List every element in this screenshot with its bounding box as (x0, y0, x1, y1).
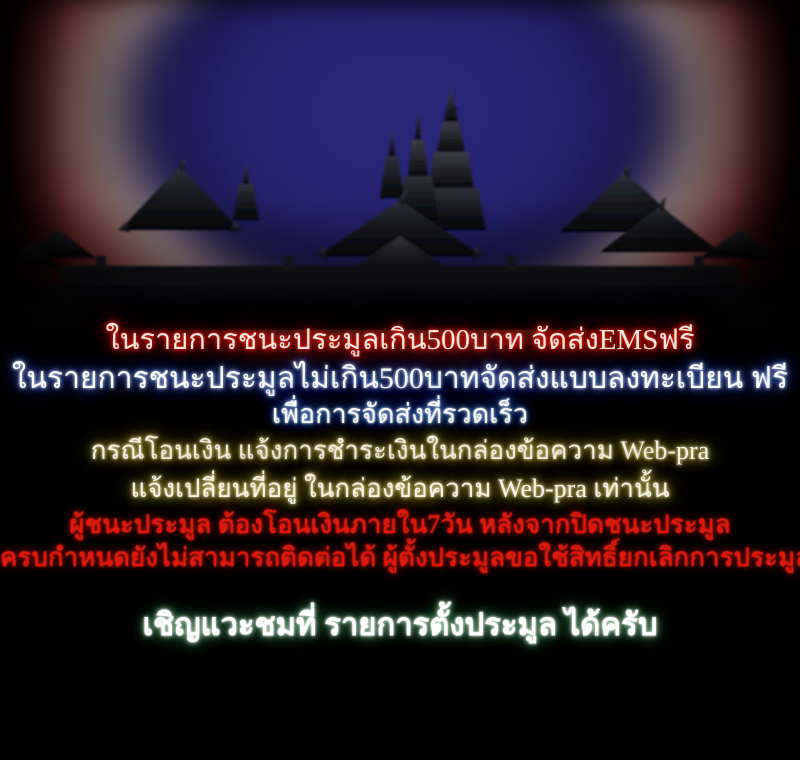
terms-line-payment-deadline: ผู้ชนะประมูล ต้องโอนเงินภายใน7วัน หลังจา… (0, 509, 800, 542)
terms-line-visit-auction-invite: เชิญแวะชมที่ รายการตั้งประมูล ได้ครับ (0, 575, 800, 640)
terms-line-shipping-free-ems: ในรายการชนะประมูลเกิน500บาท จัดส่งEMSฟรี (0, 322, 800, 361)
terms-text-block: ในรายการชนะประมูลเกิน500บาท จัดส่งEMSฟรี… (0, 322, 800, 640)
terms-line-fast-delivery-note: เพื่อการจัดส่งที่รวดเร็ว (0, 399, 800, 433)
terms-line-transfer-notify-webpra: กรณีโอนเงิน แจ้งการชำระเงินในกล่องข้อควา… (0, 433, 800, 471)
auction-terms-banner: ในรายการชนะประมูลเกิน500บาท จัดส่งEMSฟรี… (0, 0, 800, 760)
terms-line-cancel-right-notice: ครบกำหนดยังไม่สามารถติดต่อได้ ผู้ตั้งประ… (0, 542, 800, 575)
terms-line-address-change-webpra: แจ้งเปลี่ยนที่อยู่ ในกล่องข้อความ Web-pr… (0, 471, 800, 509)
temple-silhouette-image (0, 80, 800, 330)
terms-line-shipping-registered-free: ในรายการชนะประมูลไม่เกิน500บาทจัดส่งแบบล… (0, 361, 800, 399)
